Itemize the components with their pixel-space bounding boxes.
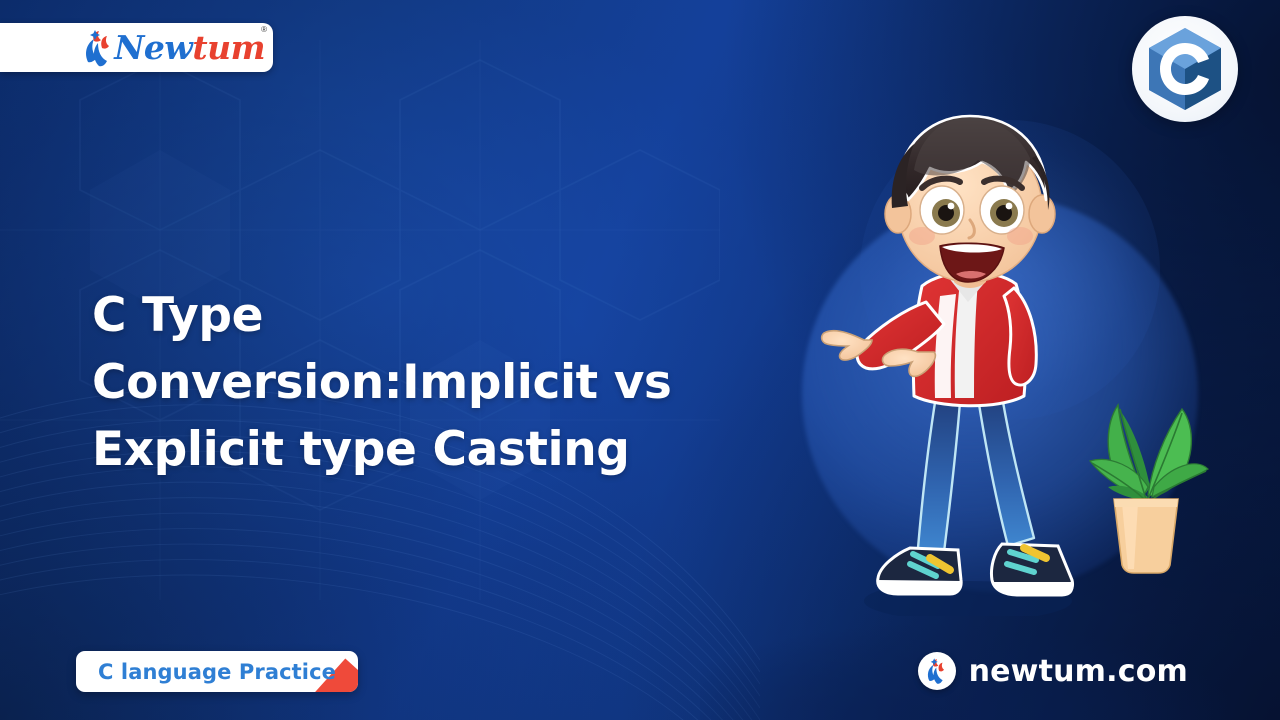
- site-brand[interactable]: newtum.com: [918, 652, 1188, 690]
- newtum-wordmark: Newtum: [114, 31, 265, 64]
- newtum-figure-mark: [82, 28, 116, 68]
- title-line-1: C Type: [92, 282, 752, 349]
- category-badge-label: C language Practice: [98, 660, 336, 684]
- c-language-badge[interactable]: [1132, 16, 1238, 122]
- c-language-hexagon-logo: [1146, 26, 1224, 112]
- logo-word-tum: tum: [192, 28, 265, 67]
- page-title: C Type Conversion:Implicit vs Explicit t…: [92, 282, 752, 483]
- potted-plant-illustration: [1078, 383, 1214, 575]
- banner-canvas: Newtum ® C Type Conversion:Implicit vs E…: [0, 0, 1280, 720]
- newtum-logo-plate[interactable]: Newtum ®: [0, 23, 273, 72]
- logo-word-new: New: [114, 28, 192, 67]
- newtum-circle-logo: [918, 652, 956, 690]
- title-line-3: Explicit type Casting: [92, 416, 752, 483]
- site-url-label: newtum.com: [969, 654, 1188, 689]
- newtum-circle-figure-icon: [924, 657, 950, 685]
- registered-trademark-icon: ®: [261, 25, 267, 34]
- category-badge[interactable]: C language Practice: [76, 651, 358, 692]
- title-line-2: Conversion:Implicit vs: [92, 349, 752, 416]
